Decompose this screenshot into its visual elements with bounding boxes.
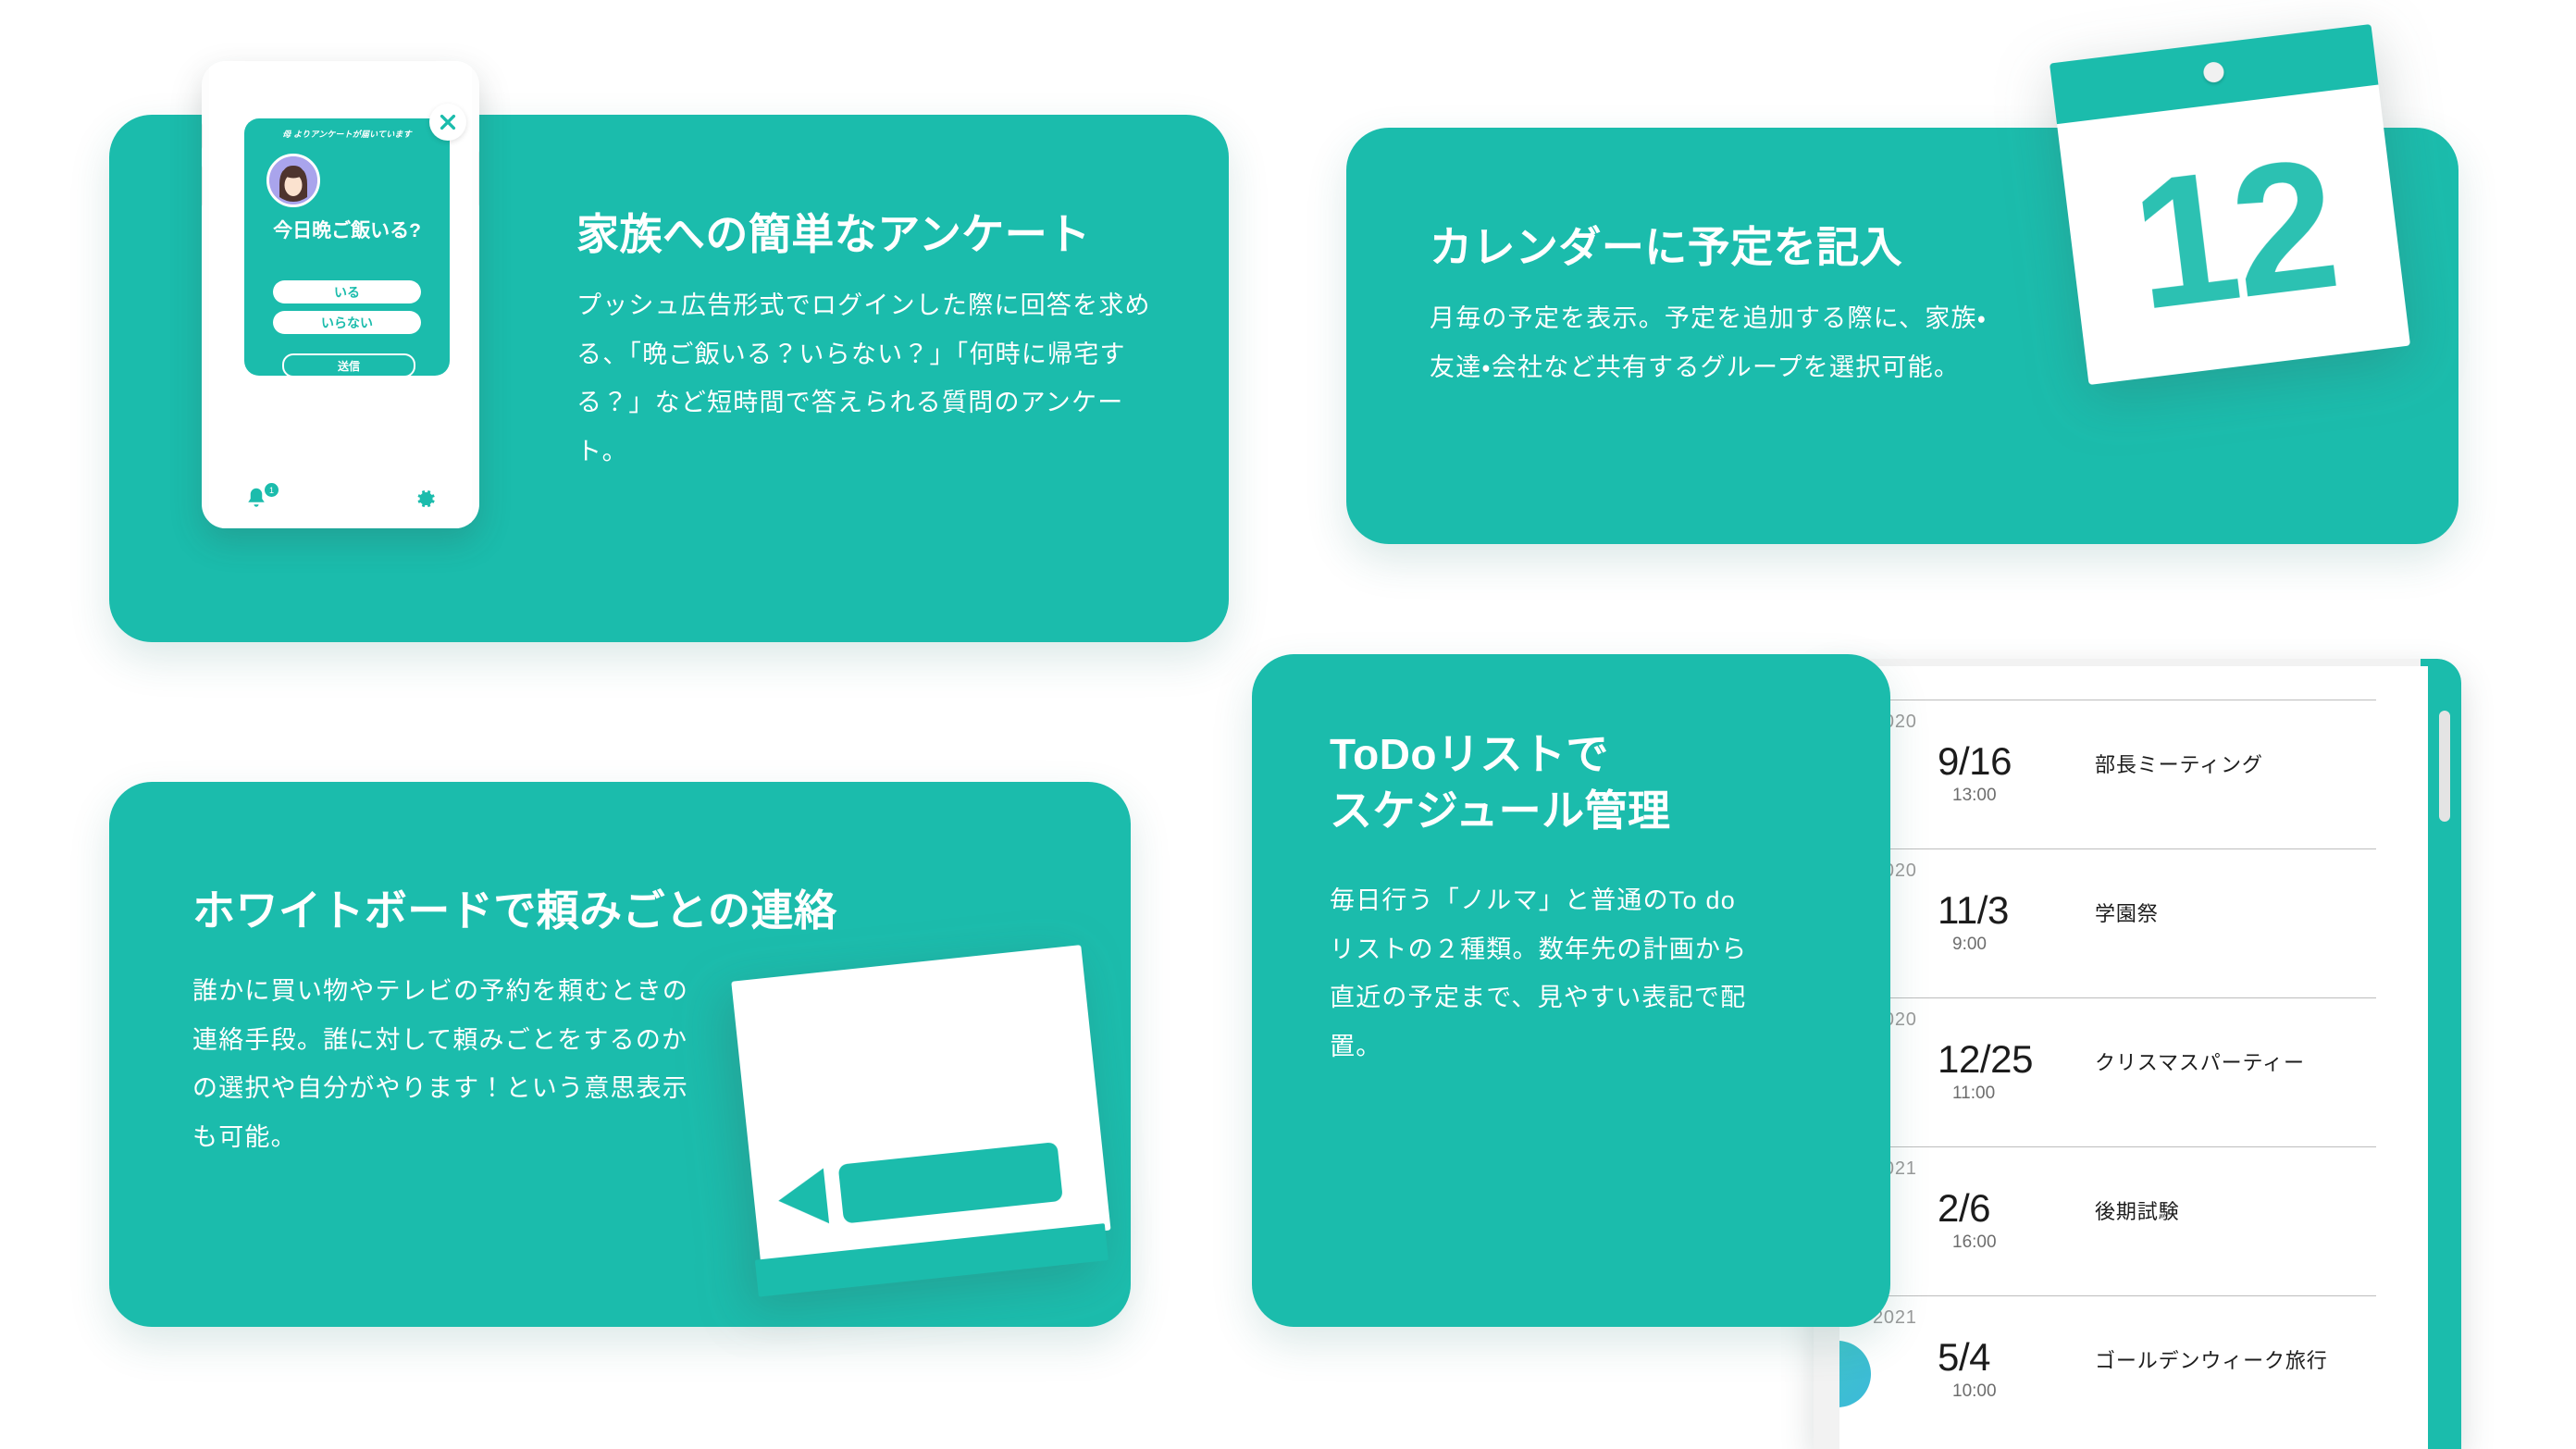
calendar-page: 12 (2057, 84, 2410, 385)
card-whiteboard-body: 誰かに買い物やテレビの予約を頼むときの連絡手段。誰に対して頼みごとをするのかの選… (192, 967, 711, 1162)
card-whiteboard: ホワイトボードで頼みごとの連絡 誰かに買い物やテレビの予約を頼むときの連絡手段。… (109, 782, 1131, 1327)
schedule-time: 11:00 (1952, 1084, 1995, 1104)
schedule-label: 学園祭 (2095, 898, 2159, 927)
phone-mockup: 母 よりアンケートが届いています (202, 61, 479, 528)
calendar-icon: 12 (2050, 24, 2410, 385)
schedule-date: 9/16 (1938, 739, 2012, 784)
schedule-label: ゴールデンウィーク旅行 (2095, 1344, 2328, 1374)
card-calendar-body: 月毎の予定を表示。予定を追加する際に、家族・友達・会社など共有するグループを選択… (1430, 294, 2003, 391)
phone-power-button[interactable] (478, 150, 479, 207)
card-whiteboard-title: ホワイトボードで頼みごとの連絡 (192, 884, 836, 938)
tablet-power-button[interactable] (2439, 711, 2450, 822)
card-todo-title: ToDoリストで スケジュール管理 (1330, 726, 1670, 839)
card-todo: ToDoリストで スケジュール管理 毎日行う「ノルマ」と普通のTo doリストの… (1252, 654, 1890, 1327)
schedule-date: 2/6 (1938, 1186, 1990, 1231)
gear-icon[interactable] (411, 485, 439, 517)
schedule-time: 13:00 (1952, 786, 1997, 806)
avatar (266, 154, 320, 207)
phone-volume-down-button[interactable] (202, 165, 203, 207)
list-item[interactable]: 2020 9/16 13:00 部長ミーティング (1873, 700, 2376, 848)
schedule-avatar (1839, 1341, 1871, 1407)
survey-option-yes[interactable]: いる (273, 280, 421, 303)
schedule-date: 11/3 (1938, 888, 2009, 933)
tablet-screen: 2020 9/16 13:00 部長ミーティング 2020 11/3 9:00 … (1839, 666, 2428, 1449)
schedule-label: 後期試験 (2095, 1195, 2180, 1225)
list-item[interactable]: 2021 5/4 10:00 ゴールデンウィーク旅行 (1873, 1295, 2376, 1444)
card-survey-body: プッシュ広告形式でログインした際に回答を求める、「晩ご飯いる？いらない？」「何時… (576, 281, 1169, 477)
close-icon[interactable] (429, 104, 466, 141)
card-todo-title-line1: ToDoリストで (1330, 730, 1609, 778)
phone-volume-up-button[interactable] (202, 122, 203, 150)
schedule-label: 部長ミーティング (2095, 749, 2263, 778)
feature-cards-stage: 母 よりアンケートが届いています (0, 0, 2576, 1449)
calendar-day-number: 12 (2124, 130, 2343, 339)
list-item[interactable]: 2020 11/3 9:00 学園祭 (1873, 848, 2376, 997)
survey-submit-button[interactable]: 送信 (282, 353, 415, 378)
bell-badge: 1 (265, 483, 279, 497)
list-item[interactable]: 2020 12/25 11:00 クリスマスパーティー (1873, 997, 2376, 1146)
bell-icon[interactable]: 1 (242, 485, 270, 517)
whiteboard-icon (731, 945, 1116, 1313)
survey-popup: 母 よりアンケートが届いています (244, 118, 450, 376)
schedule-list: 2020 9/16 13:00 部長ミーティング 2020 11/3 9:00 … (1839, 700, 2428, 1444)
card-todo-body: 毎日行う「ノルマ」と普通のTo doリストの２種類。数年先の計画から直近の予定ま… (1330, 876, 1755, 1071)
card-calendar-title: カレンダーに予定を記入 (1430, 220, 1902, 275)
list-item[interactable]: 2021 2/6 16:00 後期試験 (1873, 1146, 2376, 1295)
survey-popup-header: 母 よりアンケートが届いています (244, 128, 450, 140)
schedule-label: クリスマスパーティー (2095, 1046, 2305, 1076)
pin-icon (2202, 61, 2225, 84)
card-calendar: カレンダーに予定を記入 月毎の予定を表示。予定を追加する際に、家族・友達・会社な… (1346, 128, 2458, 544)
schedule-time: 9:00 (1952, 935, 1987, 955)
schedule-time: 10:00 (1952, 1381, 1997, 1402)
tablet-mockup: 2020 9/16 13:00 部長ミーティング 2020 11/3 9:00 … (1814, 659, 2461, 1449)
phone-navbar: 1 (209, 471, 472, 528)
schedule-time: 16:00 (1952, 1232, 1997, 1253)
card-survey: 母 よりアンケートが届いています (109, 115, 1229, 642)
card-survey-title: 家族への簡単なアンケート (576, 207, 1091, 262)
schedule-date: 5/4 (1938, 1335, 1990, 1380)
survey-question: 今日晩ご飯いる? (244, 216, 450, 243)
survey-option-no[interactable]: いらない (273, 311, 421, 334)
card-todo-title-line2: スケジュール管理 (1330, 786, 1670, 835)
schedule-date: 12/25 (1938, 1037, 2033, 1082)
phone-screen: 母 よりアンケートが届いています (209, 61, 472, 528)
